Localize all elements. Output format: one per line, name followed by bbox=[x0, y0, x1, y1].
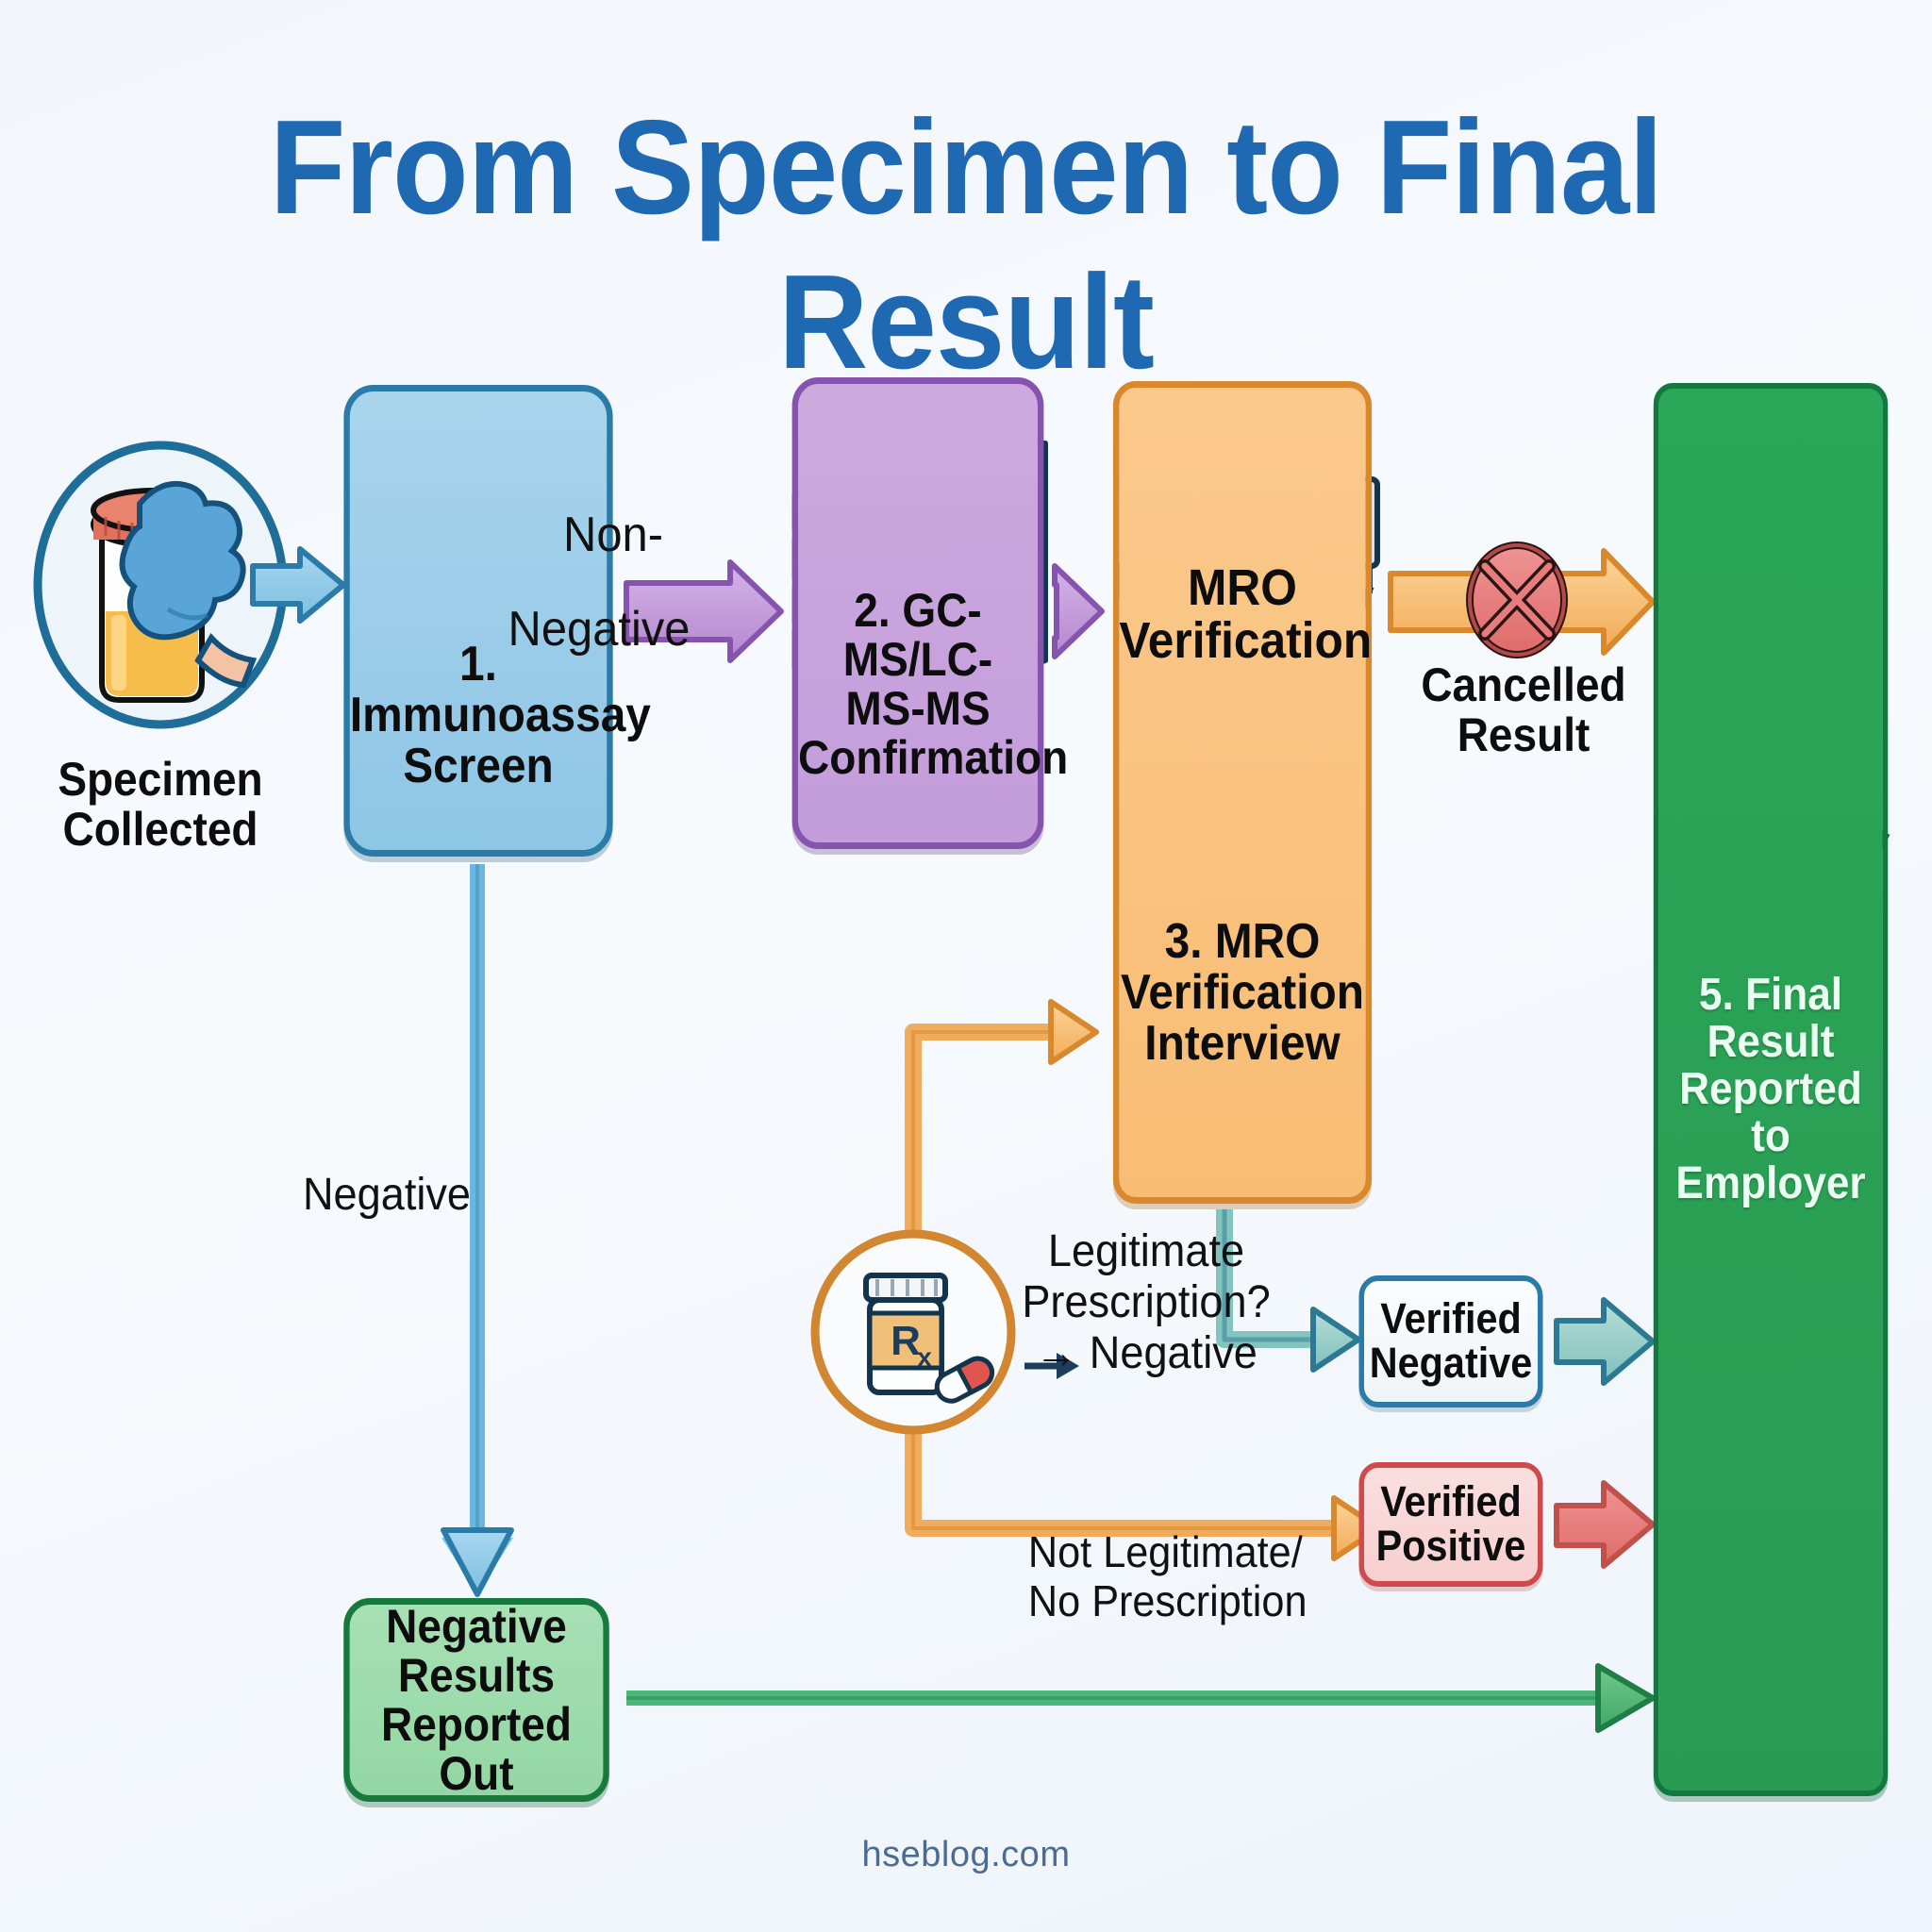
edge-label-not-legitimate: Not Legitimate/ No Prescription bbox=[1028, 1528, 1321, 1625]
node-verified-negative[interactable]: Verified Negative bbox=[1358, 1275, 1542, 1407]
edge-label-negative-down: Negative bbox=[245, 1170, 529, 1221]
arrow-verified-positive-to-final bbox=[1557, 1483, 1653, 1566]
node-verified-positive[interactable]: Verified Positive bbox=[1358, 1462, 1542, 1587]
node-mro-verification-label: MRO Verification bbox=[1119, 561, 1365, 667]
label-cancelled-result: Cancelled Result bbox=[1398, 660, 1650, 759]
urine-specimen-cup-icon bbox=[38, 445, 283, 724]
node-gcms-label: 2. GC-MS/LC- MS-MS Confirmation bbox=[798, 444, 1038, 782]
arrow-immunoassay-negative-down bbox=[441, 864, 513, 1594]
node-mro-interview-label: 3. MRO Verification Interview bbox=[1119, 916, 1365, 1069]
node-immunoassay-label: 1. Immunoassay Screen bbox=[350, 639, 607, 791]
node-final-result-label: 5. Final Result Reported to Employer bbox=[1658, 972, 1882, 1207]
edge-label-legitimate-prescription: Legitimate Prescription? → Negative bbox=[991, 1226, 1302, 1378]
rx-prescription-bottle-icon: R x bbox=[815, 1234, 1011, 1430]
arrow-negative-to-final bbox=[626, 1666, 1653, 1730]
arrow-confirmation-to-mro bbox=[1055, 566, 1102, 657]
node-verified-positive-label: Verified Positive bbox=[1364, 1480, 1538, 1569]
arrow-specimen-to-immunoassay bbox=[253, 549, 343, 621]
node-final-result[interactable]: 5. Final Result Reported to Employer bbox=[1654, 383, 1888, 1796]
footer-watermark: hseblog.com bbox=[0, 1835, 1932, 1875]
node-negative-results-reported[interactable]: Negative Results Reported Out bbox=[343, 1598, 609, 1802]
edge-label-negative-upper: Negative bbox=[471, 602, 728, 657]
node-verified-negative-label: Verified Negative bbox=[1364, 1297, 1538, 1386]
node-mro-panel[interactable]: MRO Verification 3. MRO Verification Int… bbox=[1113, 381, 1372, 1204]
cancel-cross-circle-icon bbox=[1470, 545, 1564, 655]
svg-text:R: R bbox=[891, 1318, 921, 1364]
svg-text:x: x bbox=[917, 1342, 932, 1372]
arrow-verified-negative-to-final bbox=[1557, 1300, 1653, 1383]
label-specimen-collected: Specimen Collected bbox=[30, 755, 291, 854]
page-title: From Specimen to Final Result bbox=[68, 91, 1865, 400]
node-negative-results-label: Negative Results Reported Out bbox=[350, 1602, 604, 1798]
diagram-canvas: @ bbox=[0, 0, 1932, 1932]
node-gcms-confirmation[interactable]: 2. GC-MS/LC- MS-MS Confirmation bbox=[792, 377, 1044, 849]
arrow-mro-to-cancelled-final bbox=[1391, 551, 1653, 653]
edge-label-non: Non- bbox=[498, 508, 728, 562]
